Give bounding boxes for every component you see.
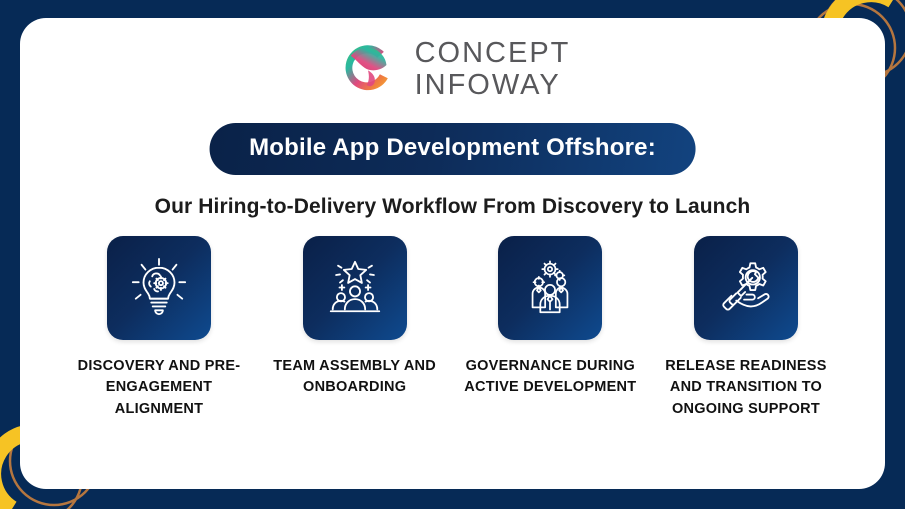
white-content-panel: CONCEPT INFOWAY Mobile App Development O…: [20, 18, 885, 489]
infographic-canvas: CONCEPT INFOWAY Mobile App Development O…: [0, 0, 905, 509]
brand-logo: CONCEPT INFOWAY: [20, 36, 885, 102]
workflow-step-2: TEAM ASSEMBLY AND ONBOARDING: [262, 236, 448, 399]
lightbulb-brain-gear-icon: [128, 257, 190, 319]
step-1-icon-tile: [107, 236, 211, 340]
step-4-label: RELEASE READINESS AND TRANSITION TO ONGO…: [653, 356, 839, 420]
workflow-steps: DISCOVERY AND PRE-ENGAGEMENT ALIGNMENT: [66, 236, 839, 420]
step-3-label: GOVERNANCE DURING ACTIVE DEVELOPMENT: [457, 356, 643, 399]
brand-line-2: INFOWAY: [415, 71, 571, 100]
concept-infoway-swirl-logo-icon: [335, 36, 401, 102]
workflow-step-1: DISCOVERY AND PRE-ENGAGEMENT ALIGNMENT: [66, 236, 252, 420]
step-2-label: TEAM ASSEMBLY AND ONBOARDING: [262, 356, 448, 399]
step-3-icon-tile: [498, 236, 602, 340]
page-title-banner: Mobile App Development Offshore:: [209, 123, 696, 175]
brand-wordmark: CONCEPT INFOWAY: [415, 39, 571, 100]
step-2-icon-tile: [303, 236, 407, 340]
step-4-icon-tile: [694, 236, 798, 340]
workflow-step-4: RELEASE READINESS AND TRANSITION TO ONGO…: [653, 236, 839, 420]
team-gears-governance-icon: [519, 257, 581, 319]
hand-gear-wrench-support-icon: [715, 257, 777, 319]
workflow-step-3: GOVERNANCE DURING ACTIVE DEVELOPMENT: [457, 236, 643, 399]
brand-line-1: CONCEPT: [415, 39, 571, 68]
page-subtitle: Our Hiring-to-Delivery Workflow From Dis…: [20, 195, 885, 219]
people-group-star-icon: [324, 257, 386, 319]
step-1-label: DISCOVERY AND PRE-ENGAGEMENT ALIGNMENT: [66, 356, 252, 420]
